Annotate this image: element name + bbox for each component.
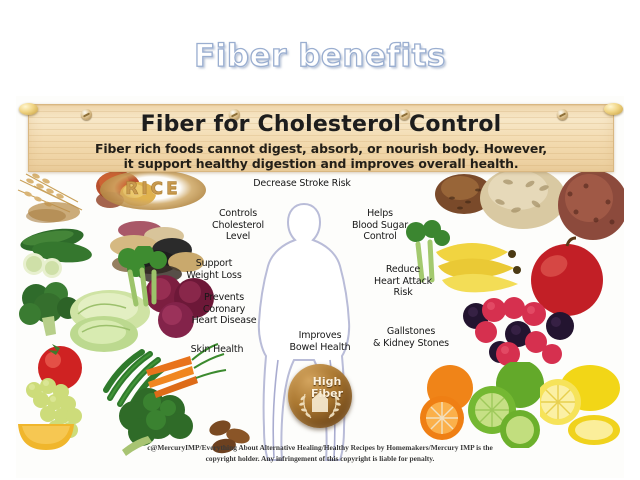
label-helps-line-2: Blood Sugar <box>352 220 408 231</box>
label-bowel-line-2: Bowel Health <box>290 342 351 353</box>
label-controls-line-1: Controls <box>219 208 257 219</box>
label-gallstones-line-1: Gallstones <box>387 326 435 337</box>
label-gallstones-line-2: & Kidney Stones <box>373 338 449 349</box>
food-image-green-grapes-bowl <box>16 372 108 452</box>
banner-subline-2: it support healthy digestion and improve… <box>29 156 613 171</box>
label-controls-line-3: Level <box>226 231 250 242</box>
food-image-wheat-stalks <box>16 172 102 224</box>
label-skin-health: Skin Health <box>174 344 260 356</box>
label-helps-line-3: Control <box>363 231 396 242</box>
label-gallstones-kidney-stones: Gallstones & Kidney Stones <box>356 326 466 349</box>
banner-subline-1: Fiber rich foods cannot digest, absorb, … <box>29 141 613 156</box>
footer-line-1: c@MercuryIMP/Everything About Alternativ… <box>16 442 624 453</box>
food-image-zucchini <box>18 222 96 278</box>
wooden-banner: Fiber for Cholesterol Control Fiber rich… <box>28 104 614 172</box>
label-improves-bowel-health: Improves Bowel Health <box>270 330 370 353</box>
label-weight-line-1: Support <box>196 258 233 269</box>
rice-word-label: RICE <box>109 179 197 199</box>
label-prevents-line-2: Coronary <box>203 304 245 315</box>
high-fiber-medallion: High Fiber <box>288 364 352 428</box>
label-bowel-line-1: Improves <box>299 330 342 341</box>
label-prevents-line-1: Prevents <box>204 292 244 303</box>
label-helps-line-1: Helps <box>367 208 393 219</box>
infographic-poster: RICE <box>16 96 624 478</box>
label-helps-blood-sugar-control: Helps Blood Sugar Control <box>332 208 428 243</box>
banner-heading: Fiber for Cholesterol Control <box>29 112 613 137</box>
page-title: Fiber benefits <box>0 38 640 74</box>
label-controls-cholesterol-level: Controls Cholesterol Level <box>192 208 284 243</box>
food-image-celery <box>112 246 176 308</box>
footer-line-2: copyright holder. Any infringement of th… <box>16 453 624 464</box>
label-prevents-coronary-heart-disease: Prevents Coronary Heart Disease <box>176 292 272 327</box>
label-skin-health-text: Skin Health <box>191 344 244 355</box>
label-decrease-stroke-risk-text: Decrease Stroke Risk <box>253 178 351 189</box>
label-reduce-line-1: Reduce <box>386 264 420 275</box>
label-reduce-line-2: Heart Attack <box>374 276 432 287</box>
food-image-lemons <box>540 360 624 448</box>
label-controls-line-2: Cholesterol <box>212 220 264 231</box>
label-prevents-line-3: Heart Disease <box>192 315 257 326</box>
label-reduce-line-3: Risk <box>393 287 412 298</box>
wheat-laurel-icon <box>297 390 343 422</box>
label-weight-line-2: Weight Loss <box>186 270 241 281</box>
copyright-footer: c@MercuryIMP/Everything About Alternativ… <box>16 442 624 464</box>
food-image-wheat-bran <box>556 168 624 242</box>
label-support-weight-loss: Support Weight Loss <box>168 258 260 281</box>
food-image-rolled-oats <box>478 162 568 232</box>
label-decrease-stroke-risk: Decrease Stroke Risk <box>212 178 392 190</box>
label-reduce-heart-attack-risk: Reduce Heart Attack Risk <box>356 264 450 299</box>
